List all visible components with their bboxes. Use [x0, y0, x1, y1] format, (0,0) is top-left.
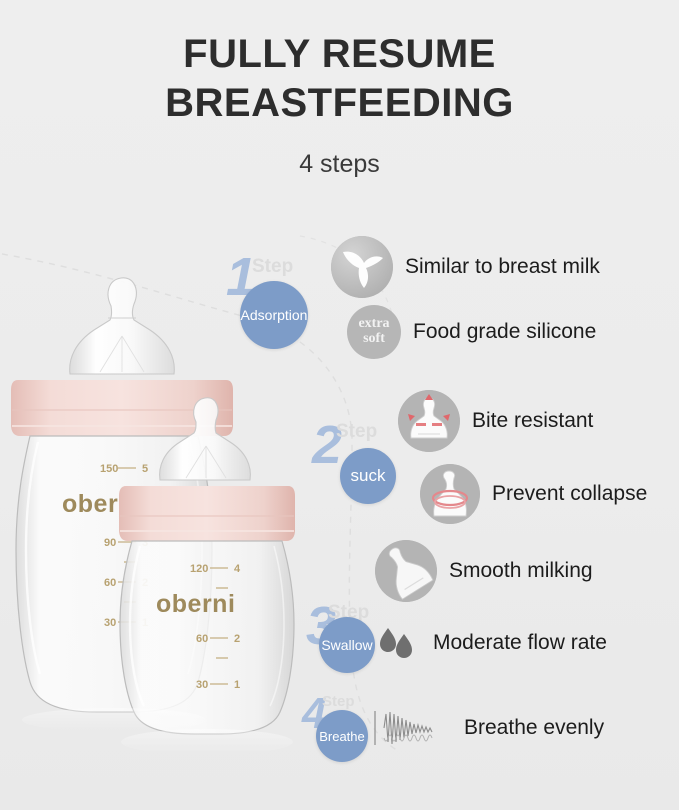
step-4-badge[interactable]: Breathe: [316, 710, 368, 762]
feature-similar-to-breast-milk: Similar to breast milk: [331, 236, 600, 298]
water-droplets-icon: [375, 620, 421, 666]
extra-soft-line-2: soft: [363, 332, 385, 347]
feature-label-6: Moderate flow rate: [433, 631, 607, 655]
step-2-badge[interactable]: suck: [340, 448, 396, 504]
nipple-bite-arrows-icon: [398, 390, 460, 452]
step-1-badge-label: Adsorption: [241, 307, 308, 323]
svg-text:2: 2: [234, 633, 240, 645]
feature-moderate-flow-rate: Moderate flow rate: [375, 620, 607, 666]
header: FULLY RESUME BREASTFEEDING 4 steps: [0, 30, 679, 179]
feature-label-3: Bite resistant: [472, 409, 593, 433]
svg-text:4: 4: [234, 563, 241, 575]
svg-text:90: 90: [104, 537, 116, 549]
page-title-line-1: FULLY RESUME: [0, 30, 679, 79]
step-3-badge[interactable]: Swallow: [319, 617, 375, 673]
feature-label-4: Prevent collapse: [492, 482, 647, 506]
feature-breathe-evenly: Breathe evenly: [370, 705, 604, 751]
svg-text:30: 30: [196, 679, 208, 691]
step-2-badge-label: suck: [351, 466, 386, 486]
nipple-anticollapse-icon: [420, 464, 480, 524]
svg-text:oberni: oberni: [156, 590, 235, 618]
nipple-tilted-icon: [375, 540, 437, 602]
step-1-step-word: Step: [252, 257, 293, 276]
svg-text:5: 5: [142, 463, 148, 475]
feature-smooth-milking: Smooth milking: [375, 540, 593, 602]
feature-label-5: Smooth milking: [449, 559, 593, 583]
step-4-badge-label: Breathe: [319, 729, 365, 744]
svg-text:120: 120: [190, 563, 208, 575]
feature-label-2: Food grade silicone: [413, 320, 596, 344]
feature-bite-resistant: Bite resistant: [398, 390, 593, 452]
svg-text:150: 150: [100, 463, 118, 475]
svg-text:60: 60: [196, 633, 208, 645]
page-title-line-2: BREASTFEEDING: [0, 79, 679, 128]
page-subtitle: 4 steps: [0, 150, 679, 179]
step-2-step-word: Step: [336, 422, 377, 441]
extra-soft-badge-icon: extra soft: [347, 305, 401, 359]
extra-soft-line-1: extra: [358, 317, 389, 332]
feature-food-grade-silicone: extra soft Food grade silicone: [347, 305, 596, 359]
feature-prevent-collapse: Prevent collapse: [420, 464, 647, 524]
step-4-step-word: Step: [322, 694, 355, 709]
step-3-badge-label: Swallow: [321, 637, 372, 653]
breath-waveform-icon: [370, 705, 452, 751]
svg-text:30: 30: [104, 617, 116, 629]
nipple-crosscut-icon: [331, 236, 393, 298]
svg-text:60: 60: [104, 577, 116, 589]
step-1-badge[interactable]: Adsorption: [240, 281, 308, 349]
infographic-root: FULLY RESUME BREASTFEEDING 4 steps: [0, 0, 679, 810]
feature-label-1: Similar to breast milk: [405, 255, 600, 279]
svg-text:1: 1: [234, 679, 240, 691]
feature-label-7: Breathe evenly: [464, 716, 604, 740]
